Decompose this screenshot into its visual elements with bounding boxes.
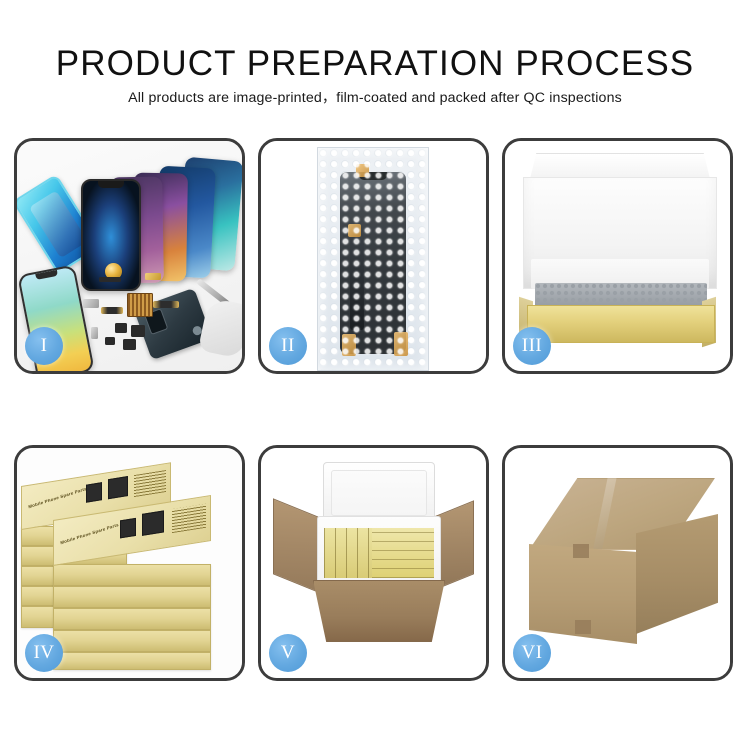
- step-3-image: III: [505, 141, 730, 371]
- box-label-text: Mobile Phone Spare Parts: [28, 486, 87, 509]
- step-badge-6: VI: [513, 634, 551, 672]
- step-5-image: V: [261, 448, 486, 678]
- stacked-box: [53, 564, 211, 586]
- spare-part-chip-icon: [127, 293, 153, 317]
- spare-part-flex-cable-icon: [153, 301, 179, 308]
- carton-tape-tab-icon: [575, 620, 591, 634]
- spare-part-button-icon: [105, 337, 115, 345]
- box-label-window: [86, 482, 102, 503]
- step-badge-5: V: [269, 634, 307, 672]
- box-label-window: [108, 476, 128, 499]
- spare-part-ic-icon: [115, 323, 127, 333]
- phone-notch-icon: [35, 270, 58, 280]
- step-panel-1[interactable]: I: [14, 138, 245, 374]
- box-label-spec-lines: [134, 470, 166, 497]
- step-6-image: VI: [505, 448, 730, 678]
- step-badge-2: II: [269, 327, 307, 365]
- step-panel-2[interactable]: II: [258, 138, 489, 374]
- box-label-text: Mobile Phone Spare Parts: [60, 522, 119, 545]
- stacked-box: [53, 586, 211, 608]
- process-steps-grid: I II: [14, 138, 736, 683]
- step-panel-5[interactable]: V: [258, 445, 489, 681]
- phone-notch-icon: [98, 181, 124, 188]
- carton-body-icon: [313, 580, 445, 642]
- screen-flex-cable-icon: [350, 234, 364, 330]
- step-badge-4: IV: [25, 634, 63, 672]
- step-panel-4[interactable]: Mobile Phone Spare Parts Mobile Phone Sp…: [14, 445, 245, 681]
- box-label-window: [142, 510, 164, 535]
- foam-box-lid-icon: [323, 462, 435, 524]
- tape-piece-icon: [342, 334, 356, 356]
- carton-tape-tab-icon: [573, 544, 589, 558]
- step-2-image: II: [261, 141, 486, 371]
- tape-piece-icon: [394, 332, 408, 356]
- box-label-spec-lines: [172, 504, 206, 533]
- page-title: PRODUCT PREPARATION PROCESS: [0, 44, 750, 84]
- stacked-box: [53, 630, 211, 652]
- step-1-image: I: [17, 141, 242, 371]
- bubble-wrap-bag-icon: [317, 147, 429, 371]
- step-panel-6[interactable]: VI: [502, 445, 733, 681]
- step-panel-3[interactable]: III: [502, 138, 733, 374]
- spare-part-bracket-icon: [83, 299, 99, 308]
- box-label-window: [120, 518, 136, 539]
- page-subtitle: All products are image-printed，film-coat…: [0, 88, 750, 108]
- spare-part-camera-icon: [131, 325, 145, 337]
- spare-part-speaker-icon: [99, 277, 121, 282]
- product-preparation-infographic: PRODUCT PREPARATION PROCESS All products…: [0, 0, 750, 750]
- stacked-box: [53, 608, 211, 630]
- tape-piece-icon: [356, 164, 369, 177]
- yellow-product-packs-icon: [324, 528, 434, 578]
- stacked-box: [53, 652, 211, 670]
- step-badge-1: I: [25, 327, 63, 365]
- step-4-image: Mobile Phone Spare Parts Mobile Phone Sp…: [17, 448, 242, 678]
- tape-piece-icon: [348, 224, 361, 237]
- spare-part-flex-cable-icon: [101, 307, 123, 314]
- spare-part-module-icon: [123, 339, 136, 350]
- spare-part-connector-icon: [145, 273, 161, 280]
- step-badge-3: III: [513, 327, 551, 365]
- spare-part-sim-tray-icon: [91, 327, 98, 339]
- kraft-box-front-icon: [527, 305, 715, 343]
